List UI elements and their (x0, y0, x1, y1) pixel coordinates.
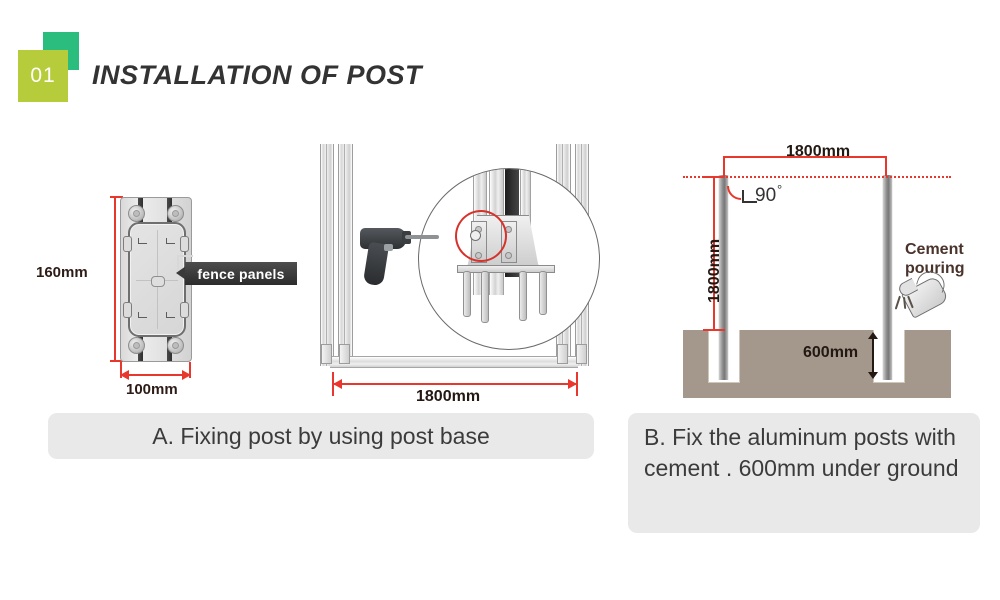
fence-panels-callout: fence panels (185, 262, 297, 285)
cover-tick-tr (166, 238, 175, 244)
dim-tick-1800-top-left (723, 156, 725, 176)
dim-line-1800mm-mid (332, 383, 578, 385)
post-b-right (882, 175, 893, 380)
dim-tick-1800-side-bottom (703, 329, 725, 331)
angle-degree-symbol: ° (777, 182, 782, 197)
dim-tick-1800-side-top (703, 176, 725, 178)
screw-head-target (470, 230, 481, 241)
post-foot-left-a (321, 344, 332, 364)
cement-label-line1: Cement (905, 240, 965, 259)
post-left-inner-edge (344, 144, 345, 366)
caption-b: B. Fix the aluminum posts with cement . … (628, 413, 980, 533)
cover-tick-bl (138, 312, 147, 318)
fence-panels-label: fence panels (197, 266, 284, 282)
dim-label-160mm: 160mm (36, 264, 88, 281)
dim-arrow-100-right (182, 370, 191, 380)
dim-line-160mm (114, 196, 116, 362)
screw-hole-tr (167, 205, 184, 222)
inset-anchor-bolt-1 (463, 271, 471, 317)
inset-anchor-bolt-2 (481, 271, 489, 323)
inset-anchor-bolt-3 (519, 271, 527, 321)
magnifier-inset (418, 168, 600, 350)
angle-label: 90 (755, 185, 776, 207)
caption-a: A. Fixing post by using post base (48, 413, 594, 459)
post-foot-left-b (339, 344, 350, 364)
cover-tick-br (166, 312, 175, 318)
dim-line-100mm (120, 374, 191, 376)
cover-ear-right-bottom (180, 302, 189, 318)
dim-label-600mm: 600mm (803, 344, 858, 362)
cover-ear-left-bottom (123, 302, 132, 318)
post-left-edge (326, 144, 327, 366)
bottom-rail (330, 356, 578, 368)
cover-center-hub (151, 276, 165, 287)
screw-hole-tl (128, 205, 145, 222)
dim-arrow-100-left (120, 370, 129, 380)
dim-label-100mm: 100mm (126, 381, 178, 398)
dim-label-1800mm-top: 1800mm (786, 143, 850, 161)
dim-line-600mm (872, 338, 874, 374)
screw-hole-bl (128, 337, 145, 354)
inset-bolt-dot-4 (505, 252, 512, 259)
diagram-canvas: 01 INSTALLATION OF POST 160mm fence pane… (0, 0, 1000, 600)
drill-bit (405, 235, 439, 239)
dim-label-1800mm-side: 1800mm (706, 239, 724, 303)
pour-stream-1 (895, 296, 901, 310)
drill-trigger (384, 244, 393, 251)
step-number: 01 (18, 50, 68, 102)
post-left (320, 144, 334, 366)
dim-arrow-1800-mid-left (333, 379, 342, 389)
post-left-inner (338, 144, 353, 366)
inset-anchor-bolt-4 (539, 271, 547, 315)
caption-a-text: A. Fixing post by using post base (152, 421, 490, 452)
caption-b-text: B. Fix the aluminum posts with cement . … (644, 424, 959, 481)
step-badge: 01 (18, 32, 88, 104)
post-foot-right-b (576, 344, 587, 364)
dim-tick-1800-top-right (885, 156, 887, 176)
dim-arrow-1800-mid-right (568, 379, 577, 389)
dim-arrow-600-down (868, 372, 878, 379)
page-title: INSTALLATION OF POST (92, 60, 422, 91)
post-foot-right-a (557, 344, 568, 364)
screw-hole-br (167, 337, 184, 354)
cover-ear-right-top (180, 236, 189, 252)
cover-ear-left-top (123, 236, 132, 252)
dim-arrow-600-up (868, 332, 878, 339)
cover-tick-tl (138, 238, 147, 244)
dim-label-1800mm-mid: 1800mm (416, 388, 480, 406)
